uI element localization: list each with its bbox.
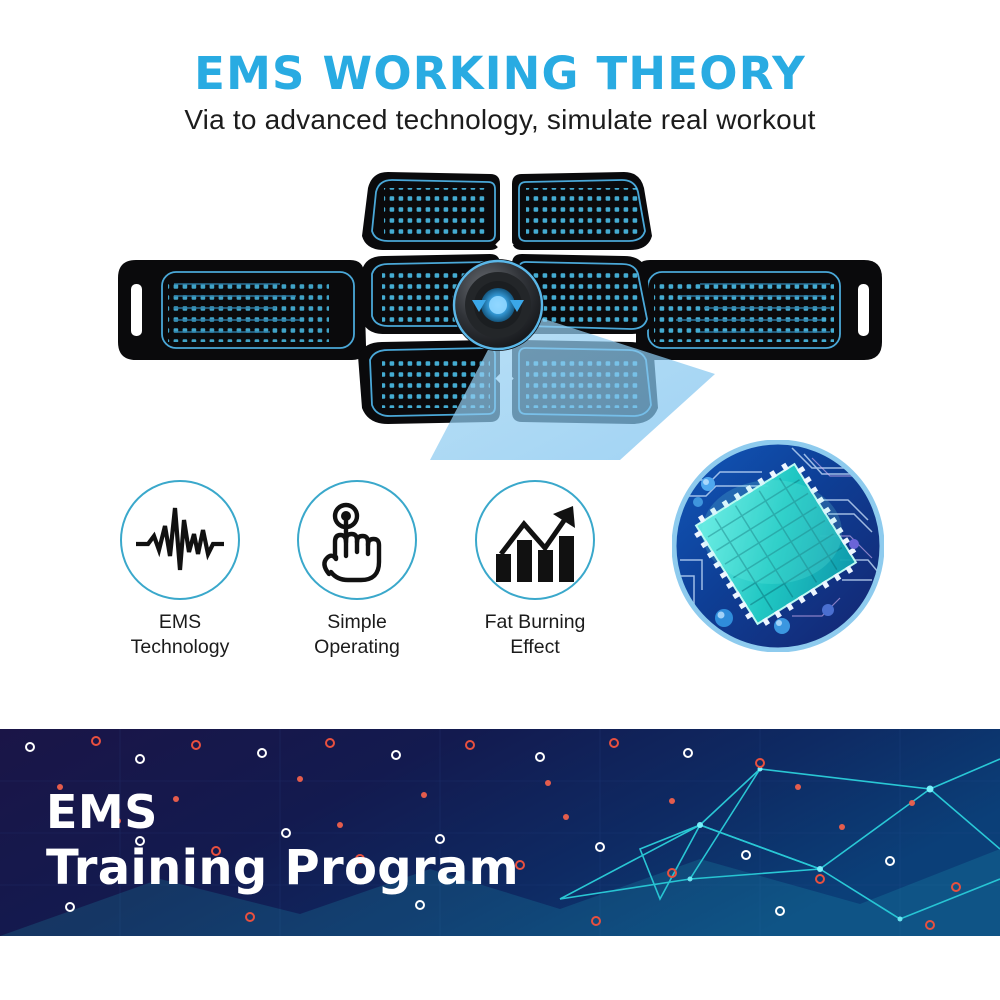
banner-heading: EMS Training Program	[46, 789, 519, 892]
feature-label-line1: EMS	[95, 610, 265, 635]
feature-fat-burning-effect: Fat Burning Effect	[450, 480, 620, 660]
feature-circle	[120, 480, 240, 600]
product-illustration	[100, 160, 900, 460]
feature-label: Fat Burning Effect	[450, 610, 620, 660]
page-title: EMS WORKING THEORY	[0, 47, 1000, 100]
feature-simple-operating: Simple Operating	[272, 480, 442, 660]
feature-circle	[297, 480, 417, 600]
ems-waveform-icon	[122, 482, 238, 598]
left-arm-pad	[118, 260, 366, 360]
page-subtitle: Via to advanced technology, simulate rea…	[0, 104, 1000, 136]
bar-chart-arrow-icon	[477, 482, 593, 598]
feature-label: Simple Operating	[272, 610, 442, 660]
feature-label-line2: Effect	[450, 635, 620, 660]
feature-label-line1: Simple	[272, 610, 442, 635]
banner-heading-line1: EMS	[46, 789, 519, 835]
feature-ems-technology: EMS Technology	[95, 480, 265, 660]
feature-label: EMS Technology	[95, 610, 265, 660]
ems-training-banner: EMS Training Program	[0, 729, 1000, 936]
feature-label-line1: Fat Burning	[450, 610, 620, 635]
feature-circle	[475, 480, 595, 600]
power-control-button	[452, 259, 544, 351]
banner-heading-line2: Training Program	[46, 844, 519, 892]
right-arm-pad	[636, 260, 882, 360]
hand-tap-icon	[299, 482, 415, 598]
infographic-page: EMS WORKING THEORY Via to advanced techn…	[0, 0, 1000, 1000]
feature-label-line2: Technology	[95, 635, 265, 660]
feature-label-line2: Operating	[272, 635, 442, 660]
feature-list: EMS Technology	[95, 480, 625, 680]
circuit-board-magnifier	[672, 440, 884, 652]
